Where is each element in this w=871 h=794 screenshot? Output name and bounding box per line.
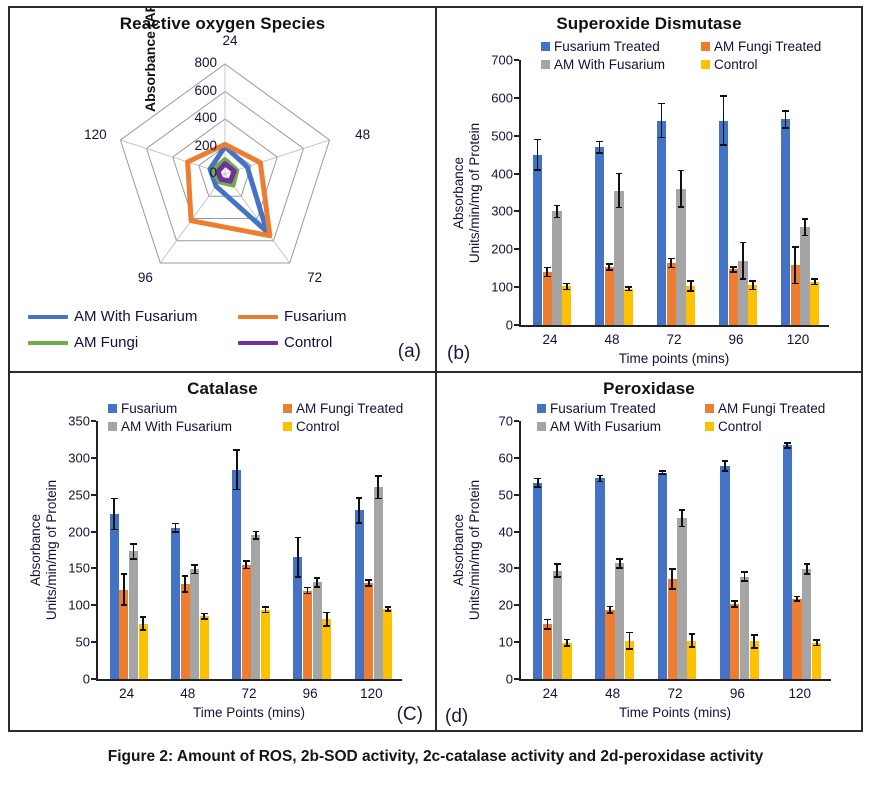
error-bar [661, 104, 663, 138]
error-bar-cap [182, 575, 189, 577]
x-axis-line [519, 325, 829, 327]
legend-swatch-blue [28, 315, 68, 319]
bar [383, 609, 392, 679]
y-axis-tick-label: 60 [465, 450, 513, 465]
panel-a-legend: AM With Fusarium Fusarium AM Fungi Contr… [28, 308, 428, 360]
error-bar-cap [749, 289, 756, 291]
error-bar [629, 633, 631, 649]
bar [313, 582, 322, 679]
x-axis-tick-label: 120 [769, 686, 831, 701]
bar [552, 211, 561, 325]
error-bar-cap [243, 560, 250, 562]
error-bar-cap [792, 246, 799, 248]
x-axis-title: Time Points (mins) [519, 705, 831, 720]
y-axis-tick [514, 135, 519, 137]
error-bar-cap [678, 206, 685, 208]
error-bar-cap [616, 567, 623, 569]
error-bar-cap [782, 110, 789, 112]
figure-frame: Reactive oxygen Species 2448729612002004… [8, 6, 863, 732]
error-bar [184, 576, 186, 592]
bar [322, 619, 331, 679]
bar [562, 286, 571, 325]
bar [242, 565, 251, 679]
bar [720, 466, 729, 679]
bar [200, 616, 209, 679]
bar [374, 487, 383, 679]
legend-label: AM With Fusarium [74, 308, 197, 325]
error-bar [537, 140, 539, 170]
radar-radial-tick-label: 0 [173, 165, 217, 180]
y-axis-tick-label: 700 [465, 53, 513, 68]
error-bar [556, 564, 558, 577]
error-bar-cap [385, 606, 392, 608]
y-axis-title-line1: Absorbance [28, 480, 44, 620]
y-axis-title-line2: Units/min/mg of Protein [467, 122, 483, 262]
error-bar-cap [365, 579, 372, 581]
x-axis-tick-label: 72 [644, 686, 706, 701]
bar [232, 470, 241, 679]
error-bar-cap [813, 645, 820, 647]
error-bar-cap [597, 481, 604, 483]
error-bar-cap [811, 284, 818, 286]
y-axis-title: AbsorbanceUnits/min/mg of Protein [451, 480, 483, 620]
error-bar-cap [534, 486, 541, 488]
y-axis-tick [91, 604, 96, 606]
error-bar-cap [668, 258, 675, 260]
x-axis-tick-label: 120 [341, 686, 402, 701]
x-axis-tick-label: 72 [643, 332, 705, 347]
y-axis-tick-label: 50 [42, 635, 90, 650]
radar-radial-tick-label: 800 [173, 55, 217, 70]
error-bar-cap [751, 634, 758, 636]
bar [676, 189, 685, 325]
y-axis-title-line1: Absorbance [451, 122, 467, 262]
error-bar-cap [749, 280, 756, 282]
error-bar-cap [356, 497, 363, 499]
error-bar-cap [687, 280, 694, 282]
y-axis-title: AbsorbanceUnits/min/mg of Protein [451, 122, 483, 262]
error-bar [297, 537, 299, 577]
error-bar [142, 617, 144, 630]
legend-label: Fusarium [284, 308, 347, 325]
y-axis-line [519, 421, 521, 679]
error-bar-cap [314, 577, 321, 579]
bar [553, 571, 562, 679]
legend-label: AM Fungi [74, 334, 138, 351]
error-bar-cap [262, 612, 269, 614]
error-bar-cap [182, 591, 189, 593]
y-axis-tick-label: 10 [465, 635, 513, 650]
error-bar-cap [554, 217, 561, 219]
error-bar-cap [564, 645, 571, 647]
x-axis-line [519, 679, 831, 681]
error-bar-cap [669, 568, 676, 570]
y-axis-tick-label: 70 [465, 414, 513, 429]
error-bar-cap [606, 263, 613, 265]
error-bar-cap [130, 558, 137, 560]
error-bar-cap [295, 537, 302, 539]
legend-swatch-orange [238, 315, 278, 319]
y-axis-line [96, 421, 98, 679]
x-axis-tick-label: 96 [706, 686, 768, 701]
error-bar-cap [689, 633, 696, 635]
bar [129, 551, 138, 679]
bar [729, 269, 738, 325]
y-axis-tick [514, 324, 519, 326]
error-bar-cap [669, 588, 676, 590]
bar [533, 155, 542, 325]
figure-page: Reactive oxygen Species 2448729612002004… [0, 0, 871, 794]
error-bar-cap [121, 573, 128, 575]
radar-axis-label-48: 48 [346, 127, 380, 142]
error-bar [236, 450, 238, 490]
bar [781, 119, 790, 325]
y-axis-line [519, 60, 521, 325]
radar-spoke [225, 140, 330, 174]
panel-superoxide-dismutase: Superoxide Dismutase Fusarium Treated AM… [437, 8, 861, 373]
y-axis-tick [514, 567, 519, 569]
error-bar [133, 544, 135, 559]
y-axis-title-line1: Absorbance [451, 480, 467, 620]
error-bar-cap [607, 606, 614, 608]
legend-swatch-purple [238, 341, 278, 345]
x-axis-tick-label: 48 [581, 332, 643, 347]
y-axis-tick [514, 641, 519, 643]
error-bar-cap [356, 522, 363, 524]
bar [792, 599, 801, 679]
error-bar-cap [741, 571, 748, 573]
error-bar-cap [804, 563, 811, 565]
bar [364, 583, 373, 679]
error-bar [680, 171, 682, 207]
error-bar-cap [253, 531, 260, 533]
bar [595, 147, 604, 325]
y-axis-tick [91, 531, 96, 533]
error-bar-cap [323, 612, 330, 614]
x-axis-tick-label: 48 [581, 686, 643, 701]
error-bar-cap [794, 600, 801, 602]
y-axis-tick [514, 248, 519, 250]
error-bar-cap [111, 498, 118, 500]
error-bar-cap [730, 271, 737, 273]
error-bar-cap [616, 558, 623, 560]
error-bar-cap [304, 593, 311, 595]
error-bar-cap [534, 139, 541, 141]
error-bar-cap [659, 473, 666, 475]
error-bar-cap [720, 144, 727, 146]
x-axis-tick-label: 24 [519, 332, 581, 347]
panel-b-tag: (b) [447, 343, 470, 365]
error-bar-cap [243, 568, 250, 570]
error-bar-cap [140, 616, 147, 618]
error-bar [794, 247, 796, 283]
error-bar-cap [544, 267, 551, 269]
y-axis-tick-label: 100 [465, 280, 513, 295]
y-axis-tick [514, 531, 519, 533]
bar [668, 579, 677, 679]
y-axis-tick-label: 300 [42, 450, 90, 465]
error-bar-cap [375, 475, 382, 477]
error-bar-cap [233, 489, 240, 491]
bar [812, 643, 821, 679]
y-axis-tick [514, 457, 519, 459]
legend-item-am-with-fusarium: AM With Fusarium [28, 308, 238, 325]
error-bar-cap [784, 442, 791, 444]
y-axis-tick [91, 567, 96, 569]
y-axis-tick [514, 494, 519, 496]
y-axis-tick [91, 678, 96, 680]
error-bar-cap [811, 278, 818, 280]
y-axis-tick [514, 210, 519, 212]
bar [657, 121, 666, 325]
error-bar-cap [544, 276, 551, 278]
error-bar-cap [784, 447, 791, 449]
figure-caption: Figure 2: Amount of ROS, 2b-SOD activity… [0, 748, 871, 766]
error-bar-cap [534, 478, 541, 480]
legend-swatch-green [28, 341, 68, 345]
error-bar [723, 96, 725, 145]
error-bar-cap [679, 509, 686, 511]
x-axis-tick-label: 96 [280, 686, 341, 701]
error-bar-cap [678, 170, 685, 172]
error-bar-cap [626, 632, 633, 634]
y-axis-tick [91, 641, 96, 643]
bar [719, 121, 728, 325]
y-axis-tick [91, 457, 96, 459]
bar [748, 285, 757, 325]
x-axis-tick-label: 120 [767, 332, 829, 347]
error-bar-cap [722, 470, 729, 472]
radar-series-control [218, 164, 234, 182]
error-bar-cap [130, 543, 137, 545]
error-bar-cap [544, 619, 551, 621]
bar [802, 569, 811, 679]
error-bar-cap [314, 586, 321, 588]
error-bar [326, 613, 328, 626]
panel-peroxidase: Peroxidase Fusarium Treated AM Fungi Tre… [437, 373, 861, 730]
bar [171, 528, 180, 679]
error-bar-cap [625, 286, 632, 288]
y-axis-title-line2: Units/min/mg of Protein [467, 480, 483, 620]
bar [677, 518, 686, 679]
error-bar-cap [121, 604, 128, 606]
radar-radial-tick-label: 600 [173, 83, 217, 98]
error-bar-cap [201, 618, 208, 620]
error-bar [785, 111, 787, 128]
error-bar-cap [794, 596, 801, 598]
error-bar-cap [616, 207, 623, 209]
y-axis-title: AbsorbanceUnits/min/mg of Protein [28, 480, 60, 620]
y-axis-tick [514, 678, 519, 680]
bar [740, 577, 749, 679]
error-bar-cap [731, 600, 738, 602]
error-bar-cap [731, 606, 738, 608]
error-bar-cap [802, 218, 809, 220]
bar [614, 191, 623, 325]
bar [139, 624, 148, 679]
error-bar-cap [751, 647, 758, 649]
error-bar-cap [689, 646, 696, 648]
y-axis-tick [514, 173, 519, 175]
y-axis-title-line2: Units/min/mg of Protein [44, 480, 60, 620]
error-bar-cap [534, 169, 541, 171]
bar [605, 610, 614, 679]
error-bar-cap [659, 470, 666, 472]
error-bar-cap [668, 267, 675, 269]
bar [605, 267, 614, 325]
error-bar [123, 574, 125, 605]
error-bar-cap [111, 529, 118, 531]
radar-axis-title: Absorbance (AFU) [142, 8, 158, 112]
error-bar-cap [626, 648, 633, 650]
error-bar-cap [365, 585, 372, 587]
error-bar-cap [304, 587, 311, 589]
bar [181, 584, 190, 679]
bar [543, 272, 552, 325]
error-bar-cap [544, 628, 551, 630]
radar-axis-label-72: 72 [298, 270, 332, 285]
error-bar-cap [554, 205, 561, 207]
y-axis-tick [514, 59, 519, 61]
error-bar-cap [262, 606, 269, 608]
bar [533, 483, 542, 679]
bar [355, 510, 364, 679]
error-bar-cap [804, 573, 811, 575]
bar [730, 604, 739, 679]
error-bar [742, 242, 744, 278]
bar [658, 473, 667, 679]
error-bar-cap [554, 576, 561, 578]
error-bar-cap [606, 269, 613, 271]
error-bar-cap [740, 242, 747, 244]
error-bar-cap [375, 498, 382, 500]
bar [251, 535, 260, 679]
error-bar-cap [722, 460, 729, 462]
error-bar-cap [563, 289, 570, 291]
error-bar-cap [741, 580, 748, 582]
bar [190, 569, 199, 679]
error-bar [618, 174, 620, 208]
error-bar-cap [813, 639, 820, 641]
error-bar-cap [687, 290, 694, 292]
error-bar-cap [596, 141, 603, 143]
radar-radial-tick-label: 200 [173, 138, 217, 153]
y-axis-tick-label: 0 [465, 318, 513, 333]
error-bar [753, 635, 755, 648]
radar-svg [10, 26, 437, 306]
error-bar-cap [253, 538, 260, 540]
error-bar-cap [730, 266, 737, 268]
error-bar [691, 634, 693, 647]
y-axis-tick-label: 0 [42, 672, 90, 687]
error-bar-cap [201, 613, 208, 615]
y-axis-tick [514, 420, 519, 422]
error-bar [671, 569, 673, 589]
panel-reactive-oxygen-species: Reactive oxygen Species 2448729612002004… [10, 8, 437, 373]
legend-item-fusarium: Fusarium [238, 308, 347, 325]
error-bar [113, 498, 115, 529]
bar-chart-b: 010020030040050060070024487296120Time po… [437, 8, 861, 371]
y-axis-tick [91, 420, 96, 422]
x-axis-line [96, 679, 402, 681]
error-bar-cap [616, 173, 623, 175]
bar [562, 643, 571, 679]
error-bar-cap [596, 152, 603, 154]
bar-chart-d: 01020304050607024487296120Time Points (m… [437, 373, 861, 730]
bar [667, 263, 676, 325]
error-bar [358, 498, 360, 523]
bar [543, 624, 552, 679]
y-axis-tick-label: 350 [42, 414, 90, 429]
radar-axis-label-120: 120 [78, 127, 112, 142]
y-axis-tick-label: 600 [465, 90, 513, 105]
error-bar-cap [385, 610, 392, 612]
radar-radial-tick-label: 400 [173, 110, 217, 125]
error-bar [804, 219, 806, 236]
bar [800, 227, 809, 325]
x-axis-title: Time points (mins) [519, 351, 829, 366]
error-bar-cap [295, 576, 302, 578]
error-bar-cap [658, 103, 665, 105]
y-axis-tick [514, 286, 519, 288]
error-bar-cap [172, 523, 179, 525]
x-axis-tick-label: 24 [519, 686, 581, 701]
error-bar-cap [625, 290, 632, 292]
radar-axis-label-24: 24 [213, 33, 247, 48]
bar [261, 610, 270, 679]
bar [783, 445, 792, 679]
error-bar-cap [140, 629, 147, 631]
error-bar-cap [782, 127, 789, 129]
x-axis-tick-label: 24 [96, 686, 157, 701]
error-bar [377, 476, 379, 498]
legend-item-am-fungi: AM Fungi [28, 334, 238, 351]
radar-axis-label-96: 96 [128, 270, 162, 285]
error-bar-cap [658, 137, 665, 139]
error-bar-cap [597, 475, 604, 477]
panel-d-tag: (d) [445, 706, 468, 728]
error-bar-cap [802, 235, 809, 237]
error-bar-cap [563, 283, 570, 285]
x-axis-tick-label: 72 [218, 686, 279, 701]
bar [110, 514, 119, 679]
y-axis-tick [514, 97, 519, 99]
x-axis-tick-label: 96 [705, 332, 767, 347]
panel-c-tag: (C) [397, 704, 423, 726]
bar [595, 478, 604, 679]
error-bar [681, 510, 683, 526]
error-bar-cap [679, 526, 686, 528]
y-axis-tick-label: 0 [465, 672, 513, 687]
bar [303, 591, 312, 679]
bar-chart-c: 05010015020025030035024487296120Time Poi… [10, 373, 435, 730]
error-bar-cap [607, 612, 614, 614]
bar [624, 289, 633, 325]
y-axis-tick [91, 494, 96, 496]
error-bar-cap [564, 639, 571, 641]
error-bar-cap [233, 449, 240, 451]
legend-item-control: Control [238, 334, 332, 351]
error-bar-cap [172, 531, 179, 533]
error-bar-cap [792, 283, 799, 285]
error-bar-cap [191, 564, 198, 566]
error-bar-cap [720, 95, 727, 97]
error-bar-cap [740, 278, 747, 280]
x-axis-title: Time Points (mins) [96, 705, 402, 720]
y-axis-tick [514, 604, 519, 606]
legend-label: Control [284, 334, 332, 351]
bar [615, 563, 624, 679]
